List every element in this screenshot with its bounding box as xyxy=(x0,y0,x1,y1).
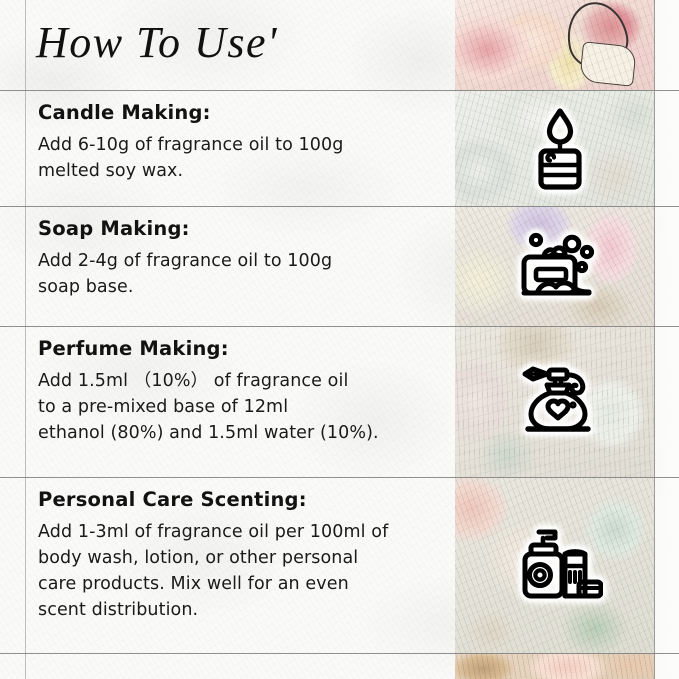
section-body-personal-care: Add 1-3ml of fragrance oil per 100ml of … xyxy=(38,519,442,623)
paper-tag-decor xyxy=(579,41,637,86)
section-heading-perfume: Perfume Making: xyxy=(38,336,442,362)
section-body-perfume: Add 1.5ml （10%） of fragrance oil to a pr… xyxy=(38,368,442,446)
divider-after-perfume xyxy=(0,477,679,478)
photo-edge-fade xyxy=(655,0,679,679)
divider-after-candle xyxy=(0,206,679,207)
section-heading-candle: Candle Making: xyxy=(38,100,442,126)
page-title: How To Use' xyxy=(36,12,436,74)
candle-icon xyxy=(512,106,608,192)
photo-band-bottom xyxy=(455,653,655,679)
section-heading-soap: Soap Making: xyxy=(38,216,442,242)
section-personal-care-scenting: Personal Care Scenting: Add 1-3ml of fra… xyxy=(38,487,442,623)
perfume-bottle-icon xyxy=(512,358,608,444)
section-soap-making: Soap Making: Add 2-4g of fragrance oil t… xyxy=(38,216,442,300)
section-heading-personal-care: Personal Care Scenting: xyxy=(38,487,442,513)
section-body-soap: Add 2-4g of fragrance oil to 100g soap b… xyxy=(38,248,442,300)
twine-loop-decor xyxy=(561,0,633,74)
vertical-rule-left xyxy=(25,0,26,679)
divider-after-soap xyxy=(0,326,679,327)
section-body-candle: Add 6-10g of fragrance oil to 100g melte… xyxy=(38,132,442,184)
photo-band-roses xyxy=(455,0,655,90)
how-to-use-infographic: How To Use' Candle Making: Add 6-10g of … xyxy=(0,0,679,679)
divider-after-title xyxy=(0,90,679,91)
lotion-bottle-icon xyxy=(512,518,608,610)
divider-after-care xyxy=(0,653,679,654)
section-perfume-making: Perfume Making: Add 1.5ml （10%） of fragr… xyxy=(38,336,442,446)
vertical-rule-right xyxy=(654,0,655,679)
soap-bar-icon xyxy=(512,224,608,310)
section-candle-making: Candle Making: Add 6-10g of fragrance oi… xyxy=(38,100,442,184)
